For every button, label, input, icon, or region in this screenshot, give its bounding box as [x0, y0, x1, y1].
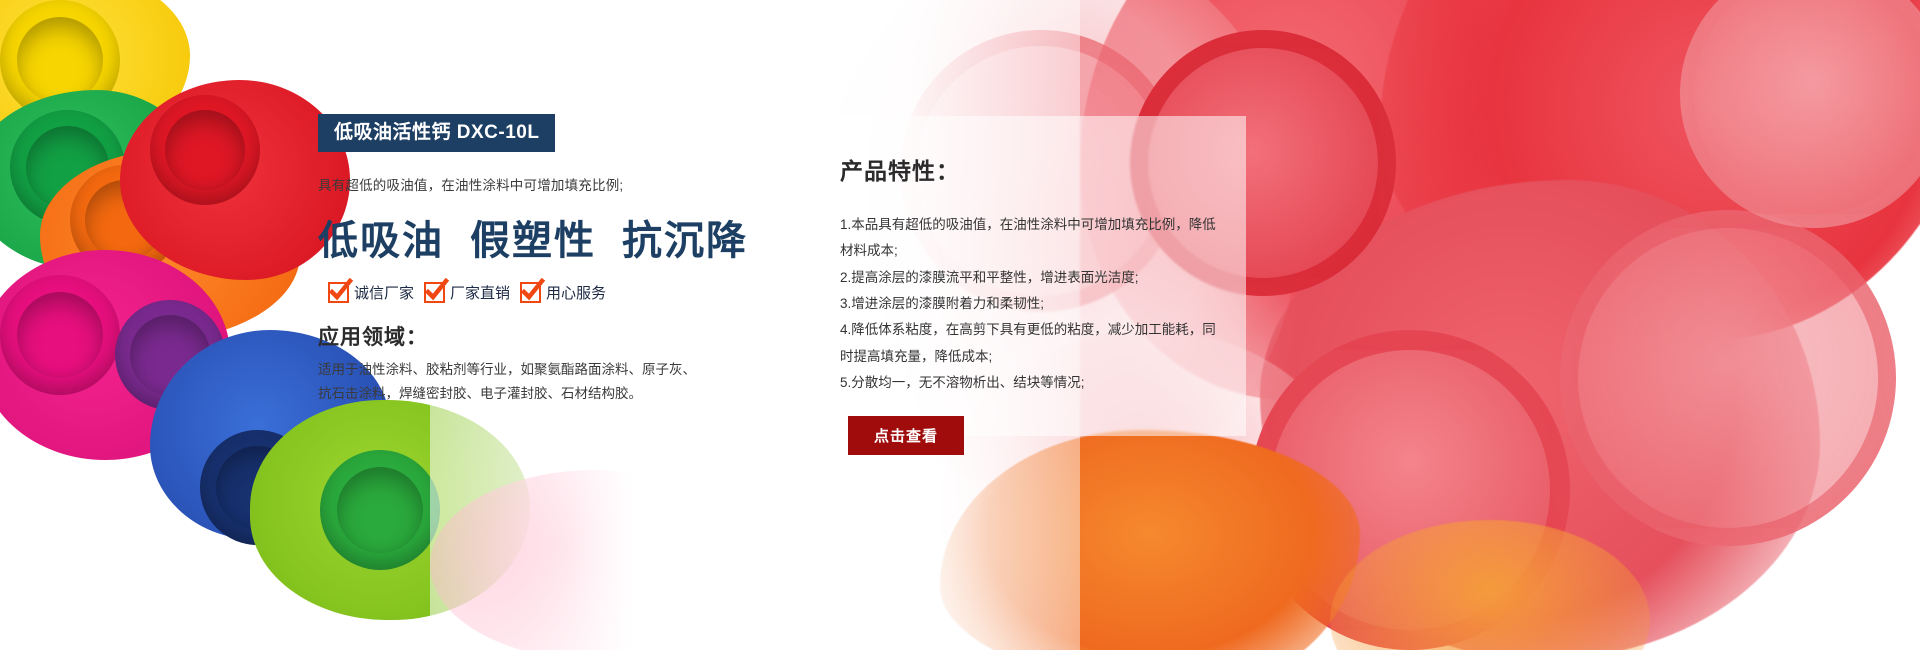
- product-info-column: 低吸油活性钙 DXC-10L 具有超低的吸油值，在油性涂料中可增加填充比例; 低…: [318, 114, 718, 405]
- feature-item: 1.本品具有超低的吸油值，在油性涂料中可增加填充比例，降低材料成本;: [840, 212, 1218, 265]
- trust-tag: 用心服务: [520, 282, 606, 303]
- headline-word-1: 低吸油: [318, 218, 444, 263]
- trust-tag-label: 厂家直销: [450, 282, 510, 303]
- checkbox-checked-icon: [424, 282, 445, 303]
- paint-pot-green-light: [320, 450, 440, 570]
- application-description: 适用于油性涂料、胶粘剂等行业，如聚氨酯路面涂料、原子灰、抗石击涂料，焊缝密封胶、…: [318, 358, 700, 405]
- feature-item: 2.提高涂层的漆膜流平和平整性，增进表面光洁度;: [840, 265, 1218, 291]
- feature-item: 3.增进涂层的漆膜附着力和柔韧性;: [840, 291, 1218, 317]
- product-features-panel: 产品特性： 1.本品具有超低的吸油值，在油性涂料中可增加填充比例，降低材料成本;…: [806, 116, 1246, 436]
- headline-word-3: 抗沉降: [622, 218, 748, 263]
- headline-word-2: 假塑性: [470, 218, 596, 263]
- checkbox-checked-icon: [520, 282, 541, 303]
- trust-tag-label: 用心服务: [546, 282, 606, 303]
- trust-tag: 诚信厂家: [328, 282, 414, 303]
- product-headline: 低吸油假塑性抗沉降: [318, 208, 718, 266]
- banner-root: 低吸油活性钙 DXC-10L 具有超低的吸油值，在油性涂料中可增加填充比例; 低…: [0, 0, 1920, 650]
- paint-pot-red: [150, 95, 260, 205]
- feature-item: 4.降低体系粘度，在高剪下具有更低的粘度，减少加工能耗，同时提高填充量，降低成本…: [840, 317, 1218, 370]
- paint-pot-magenta: [0, 275, 120, 395]
- trust-tag-list: 诚信厂家 厂家直销 用心服务: [318, 282, 718, 303]
- trust-tag-label: 诚信厂家: [354, 282, 414, 303]
- feature-item: 5.分散均一，无不溶物析出、结块等情况;: [840, 370, 1218, 396]
- features-heading: 产品特性：: [840, 152, 1246, 186]
- paint-dish-ring-4: [1560, 210, 1896, 546]
- view-details-button[interactable]: 点击查看: [848, 416, 964, 455]
- application-heading: 应用领域：: [318, 321, 718, 351]
- checkbox-checked-icon: [328, 282, 349, 303]
- product-subtitle: 具有超低的吸油值，在油性涂料中可增加填充比例;: [318, 174, 718, 194]
- trust-tag: 厂家直销: [424, 282, 510, 303]
- product-title-badge: 低吸油活性钙 DXC-10L: [318, 114, 555, 152]
- features-list: 1.本品具有超低的吸油值，在油性涂料中可增加填充比例，降低材料成本; 2.提高涂…: [840, 212, 1218, 396]
